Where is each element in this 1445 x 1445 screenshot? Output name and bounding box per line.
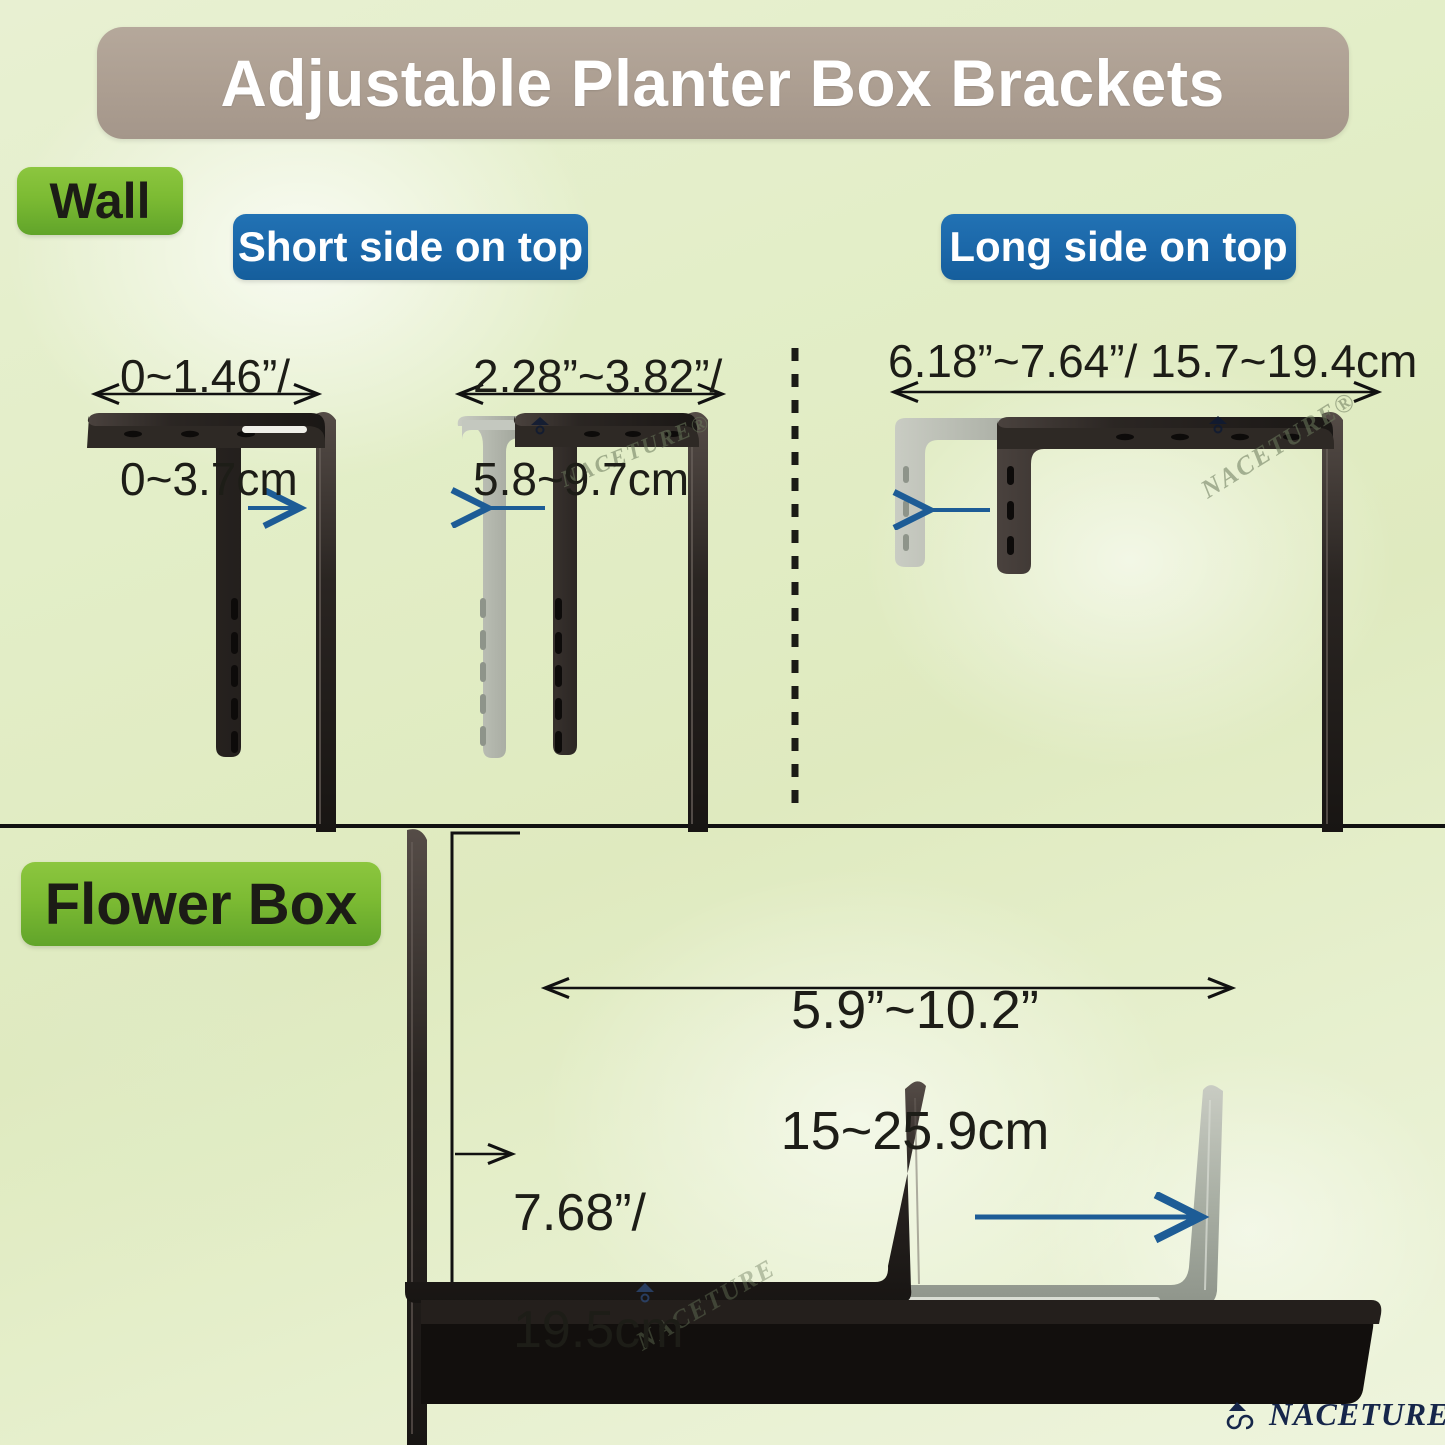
config-badge-long-side-label: Long side on top <box>949 223 1287 271</box>
brand-logo: NACETURE ® <box>1224 1396 1445 1433</box>
adjust-slot <box>231 632 238 654</box>
measurement-line: 5.9”~10.2” <box>735 980 1095 1040</box>
measurement-line: 15~25.9cm <box>735 1101 1095 1161</box>
adjust-slot <box>555 731 562 753</box>
measurement-line: 0~1.46”/ <box>120 351 298 403</box>
page-title: Adjustable Planter Box Brackets <box>221 45 1225 121</box>
bracket-config-long <box>895 412 1343 832</box>
wall-post-1 <box>316 412 336 832</box>
screw-hole <box>903 466 909 483</box>
adjust-slot <box>1007 501 1014 520</box>
brand-name: NACETURE <box>1269 1396 1445 1433</box>
section-badge-wall: Wall <box>17 167 183 235</box>
infographic-canvas: Adjustable Planter Box Brackets <box>0 0 1445 1445</box>
measurement-long-side-range: 6.18”~7.64”/ 15.7~19.4cm <box>888 336 1417 388</box>
measurement-box-depth: 7.68”/ 19.5cm <box>513 1126 684 1417</box>
config-badge-long-side: Long side on top <box>941 214 1296 280</box>
measurement-line: 5.8~9.7cm <box>473 454 722 506</box>
adjust-slot <box>555 698 562 720</box>
wall-post-3 <box>1322 412 1343 832</box>
measurement-line: 2.28”~3.82”/ <box>473 351 722 403</box>
adjust-slot <box>480 662 486 682</box>
adjust-slot <box>480 598 486 618</box>
bracket-ghost-3 <box>895 418 1166 567</box>
title-banner: Adjustable Planter Box Brackets <box>97 27 1349 139</box>
adjust-slot <box>555 632 562 654</box>
adjust-slot <box>555 665 562 687</box>
measurement-line: 19.5cm <box>513 1301 684 1359</box>
screw-hole <box>1171 434 1189 440</box>
measurement-line: 7.68”/ <box>513 1184 684 1242</box>
screw-hole <box>903 534 909 551</box>
adjust-slot <box>555 598 562 620</box>
screw-hole <box>1231 434 1249 440</box>
measurement-short-side-max: 2.28”~3.82”/ 5.8~9.7cm <box>473 299 722 557</box>
adjust-slot <box>480 694 486 714</box>
measurement-box-width: 5.9”~10.2” 15~25.9cm <box>735 920 1095 1222</box>
section-badge-flower-box: Flower Box <box>21 862 381 946</box>
adjust-slot <box>1007 466 1014 485</box>
adjust-slot <box>231 731 238 753</box>
measurement-line: 0~3.7cm <box>120 454 298 506</box>
adjust-slot <box>480 726 486 746</box>
flowerbox-wall-post <box>407 829 427 1445</box>
config-badge-short-side-label: Short side on top <box>238 223 583 271</box>
adjust-slot <box>1007 536 1014 555</box>
screw-hole <box>903 500 909 517</box>
watermark-text: NACETURE® <box>1196 385 1362 505</box>
adjust-slot <box>231 698 238 720</box>
depth-dimension-bracket <box>452 833 520 1297</box>
adjust-slot <box>480 630 486 650</box>
section-badge-wall-label: Wall <box>50 172 151 230</box>
adjust-slot <box>231 665 238 687</box>
config-badge-short-side: Short side on top <box>233 214 588 280</box>
measurement-short-side-min: 0~1.46”/ 0~3.7cm <box>120 299 298 557</box>
section-badge-flower-box-label: Flower Box <box>45 871 358 938</box>
adjust-slot <box>231 598 238 620</box>
droplet-infinity-icon <box>1224 1399 1260 1431</box>
bracket-logo-mark-3 <box>1209 416 1227 433</box>
screw-hole <box>1116 434 1134 440</box>
